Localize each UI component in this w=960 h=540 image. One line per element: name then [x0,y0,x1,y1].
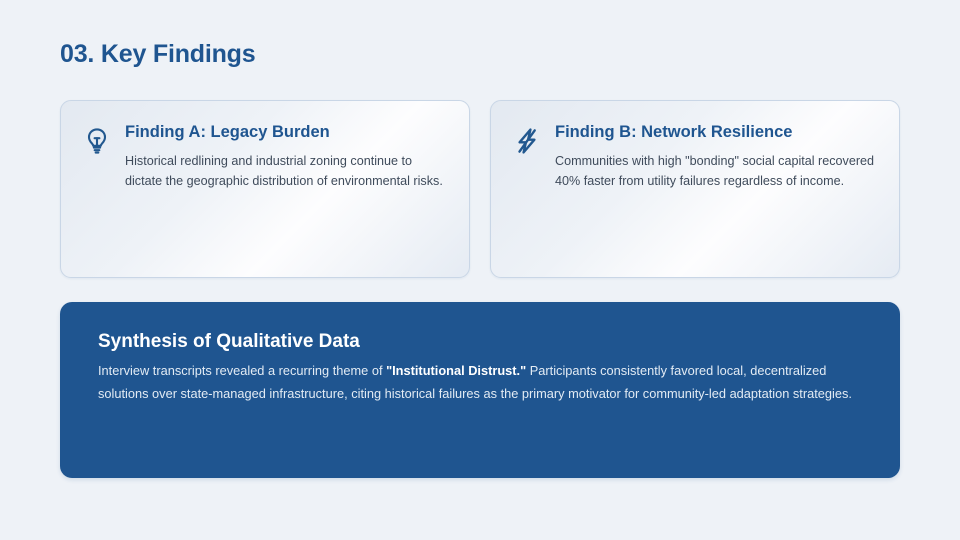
finding-card-b-text: Communities with high "bonding" social c… [555,152,875,192]
lightbulb-icon [83,127,111,157]
finding-card-a[interactable]: Finding A: Legacy Burden Historical redl… [60,100,470,278]
synthesis-title: Synthesis of Qualitative Data [98,330,862,354]
finding-card-b[interactable]: Finding B: Network Resilience Communitie… [490,100,900,278]
finding-card-a-title: Finding A: Legacy Burden [125,123,445,143]
finding-card-b-body: Finding B: Network Resilience Communitie… [555,123,875,192]
synthesis-highlight: "Institutional Distrust." [386,363,526,378]
finding-card-b-title: Finding B: Network Resilience [555,123,875,143]
synthesis-text: Interview transcripts revealed a recurri… [98,360,862,406]
finding-card-a-body: Finding A: Legacy Burden Historical redl… [125,123,445,192]
synthesis-text-before: Interview transcripts revealed a recurri… [98,363,386,378]
slide-root: 03. Key Findings Finding A: Legacy Burde… [0,0,960,540]
page-title: 03. Key Findings [60,40,255,69]
finding-card-a-text: Historical redlining and industrial zoni… [125,152,445,192]
lightning-bolt-icon [513,127,541,157]
findings-card-group: Finding A: Legacy Burden Historical redl… [60,100,900,278]
synthesis-panel: Synthesis of Qualitative Data Interview … [60,302,900,478]
